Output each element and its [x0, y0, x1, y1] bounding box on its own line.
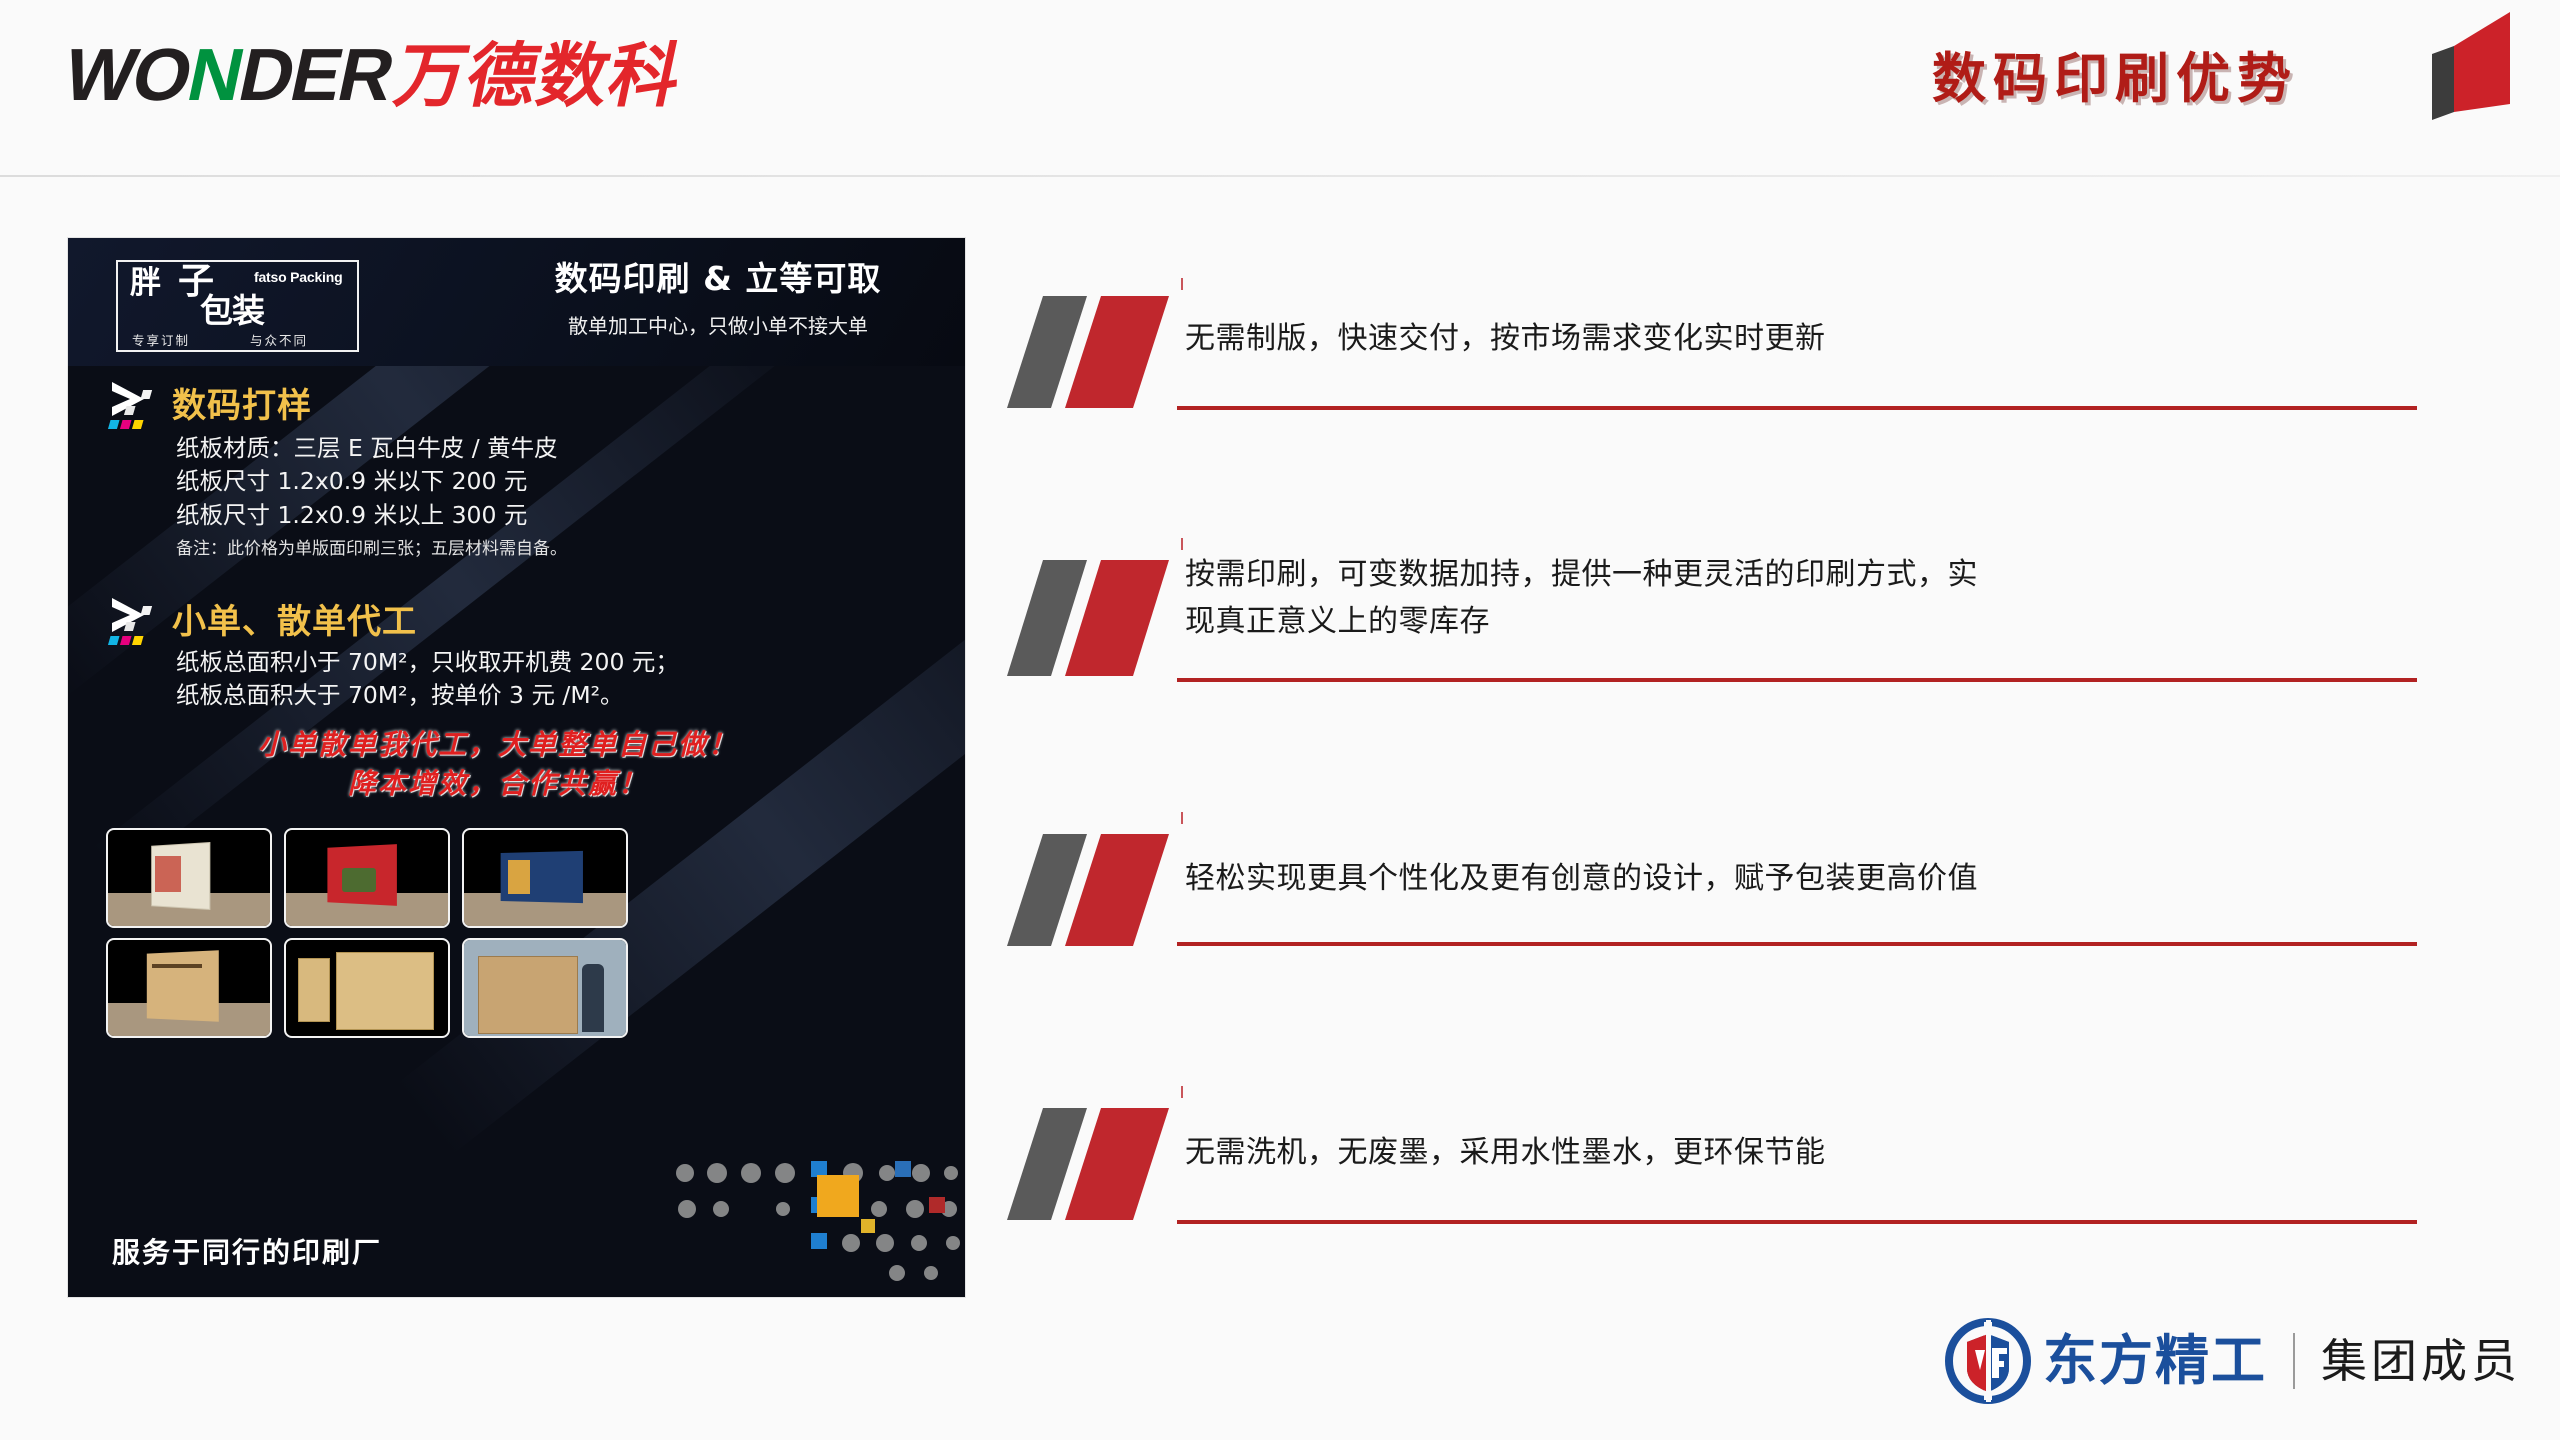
- bullet-4-line-1: 无需洗机，无废墨，采用水性墨水，更环保节能: [1185, 1130, 2365, 1177]
- poster-slogan: 小单散单我代工，大单整单自己做！ 降本增效，合作共赢！: [148, 726, 848, 803]
- poster-slogan-line-2: 降本增效，合作共赢！: [148, 765, 848, 804]
- poster-header-bar: 胖 子 fatso Packing 包装 专享订制 与众不同 数码印刷 & 立等…: [68, 238, 965, 366]
- photo-honey-giftbox: [106, 828, 272, 928]
- promo-poster-image: 胖 子 fatso Packing 包装 专享订制 与众不同 数码印刷 & 立等…: [68, 238, 965, 1297]
- worker-figure: [582, 964, 604, 1032]
- bullet-text-1: 无需制版，快速交付，按市场需求变化实时更新: [1185, 316, 2365, 363]
- page-title: 数码印刷优势: [1932, 34, 2298, 113]
- wonder-wordmark: W O N D E R: [58, 38, 399, 112]
- bullet-rule-4: [1177, 1220, 2417, 1224]
- bullet-rule-3: [1177, 942, 2417, 946]
- poster-section-1-line-1: 纸板材质：三层 E 瓦白牛皮 / 黄牛皮: [176, 432, 558, 465]
- box-body: [336, 952, 434, 1030]
- dongfang-jinggong-shield-icon: [1945, 1318, 2031, 1404]
- bullet-2-line-2: 现真正意义上的零库存: [1185, 599, 2365, 646]
- bullet-marker-icon-2: [1005, 556, 1195, 680]
- fatso-sub-left: 专享订制: [132, 330, 190, 349]
- corner-flag-decoration-icon: [2410, 8, 2530, 120]
- company-name: 东方精工: [2043, 1334, 2267, 1388]
- box-art: [152, 964, 202, 968]
- dot-pattern-decoration: [665, 1157, 965, 1297]
- fatso-packing-logo: 胖 子 fatso Packing 包装 专享订制 与众不同: [116, 260, 359, 352]
- box-art: [342, 868, 376, 892]
- poster-slogan-line-1: 小单散单我代工，大单整单自己做！: [148, 726, 848, 765]
- poster-section-heading-2: 小单、散单代工: [172, 594, 417, 643]
- bullet-3-line-1: 轻松实现更具个性化及更有创意的设计，赋予包装更高价值: [1185, 856, 2365, 903]
- poster-section-1-line-2: 纸板尺寸 1.2x0.9 米以下 200 元: [176, 465, 558, 498]
- bullet-2-line-1: 按需印刷，可变数据加持，提供一种更灵活的印刷方式，实: [1185, 552, 2365, 599]
- photo-kraft-box: [106, 938, 272, 1038]
- header-divider: [0, 175, 2560, 177]
- photo-red-giftbox: [284, 828, 450, 928]
- bullet-1-line-1: 无需制版，快速交付，按市场需求变化实时更新: [1185, 316, 2365, 363]
- bullet-marker-icon-3: [1005, 830, 1195, 950]
- fatso-sub-right: 与众不同: [250, 330, 308, 349]
- bullet-marker-icon-1: [1005, 292, 1195, 412]
- box-art: [155, 856, 181, 892]
- poster-headline: 数码印刷 & 立等可取: [498, 260, 938, 298]
- bullet-marker-icon-4: [1005, 1104, 1195, 1224]
- poster-section-lines-1: 纸板材质：三层 E 瓦白牛皮 / 黄牛皮 纸板尺寸 1.2x0.9 米以下 20…: [176, 432, 558, 532]
- poster-section-1-line-3: 纸板尺寸 1.2x0.9 米以上 300 元: [176, 499, 558, 532]
- fatso-logo-main: 包装: [200, 294, 264, 327]
- fatso-logo-char-1: 胖: [130, 268, 160, 299]
- poster-section-heading-1: 数码打样: [172, 378, 312, 427]
- poster-section-note-1: 备注：此价格为单版面印刷三张；五层材料需自备。: [176, 538, 567, 560]
- poster-section-2-line-2: 纸板总面积大于 70M²，按单价 3 元 /M²。: [176, 679, 679, 712]
- bullet-tick-3: [1181, 812, 1183, 824]
- photo-classic-box: [284, 938, 450, 1038]
- chevron-cmyk-icon-1: [106, 380, 166, 432]
- wonder-brand-logo: W O N D E R 万德数科: [58, 38, 689, 112]
- group-member-logo: 东方精工 集团成员: [1945, 1318, 2521, 1404]
- fatso-logo-english: fatso Packing: [254, 269, 342, 285]
- photo-beef-carton: [462, 828, 628, 928]
- product-photo-grid: [106, 828, 624, 1034]
- poster-footer-text: 服务于同行的印刷厂: [112, 1231, 382, 1271]
- photo-worker-carton: [462, 938, 628, 1038]
- slide-header: W O N D E R 万德数科 数码印刷优势: [0, 0, 2560, 176]
- bullet-tick-4: [1181, 1086, 1183, 1098]
- box-art: [508, 860, 530, 894]
- poster-section-2-line-1: 纸板总面积小于 70M²，只收取开机费 200 元；: [176, 646, 679, 679]
- bullet-rule-1: [1177, 406, 2417, 410]
- box-body: [478, 956, 578, 1034]
- bullet-tick-2: [1181, 538, 1183, 550]
- wonder-brand-chinese: 万德数科: [389, 41, 688, 111]
- bullet-text-3: 轻松实现更具个性化及更有创意的设计，赋予包装更高价值: [1185, 856, 2365, 903]
- chevron-cmyk-icon-2: [106, 596, 166, 648]
- bullet-text-4: 无需洗机，无废墨，采用水性墨水，更环保节能: [1185, 1130, 2365, 1177]
- slide-root: W O N D E R 万德数科 数码印刷优势 胖 子 fatso: [0, 0, 2560, 1440]
- poster-section-lines-2: 纸板总面积小于 70M²，只收取开机费 200 元； 纸板总面积大于 70M²，…: [176, 646, 679, 713]
- bullet-rule-2: [1177, 678, 2417, 682]
- box-side: [298, 958, 330, 1022]
- bullet-text-2: 按需印刷，可变数据加持，提供一种更灵活的印刷方式，实 现真正意义上的零库存: [1185, 552, 2365, 645]
- box-body: [147, 950, 219, 1022]
- bullet-tick-1: [1181, 278, 1183, 290]
- logo-divider: [2293, 1333, 2295, 1389]
- member-label: 集团成员: [2321, 1338, 2521, 1384]
- poster-subheadline: 散单加工中心，只做小单不接大单: [498, 310, 938, 339]
